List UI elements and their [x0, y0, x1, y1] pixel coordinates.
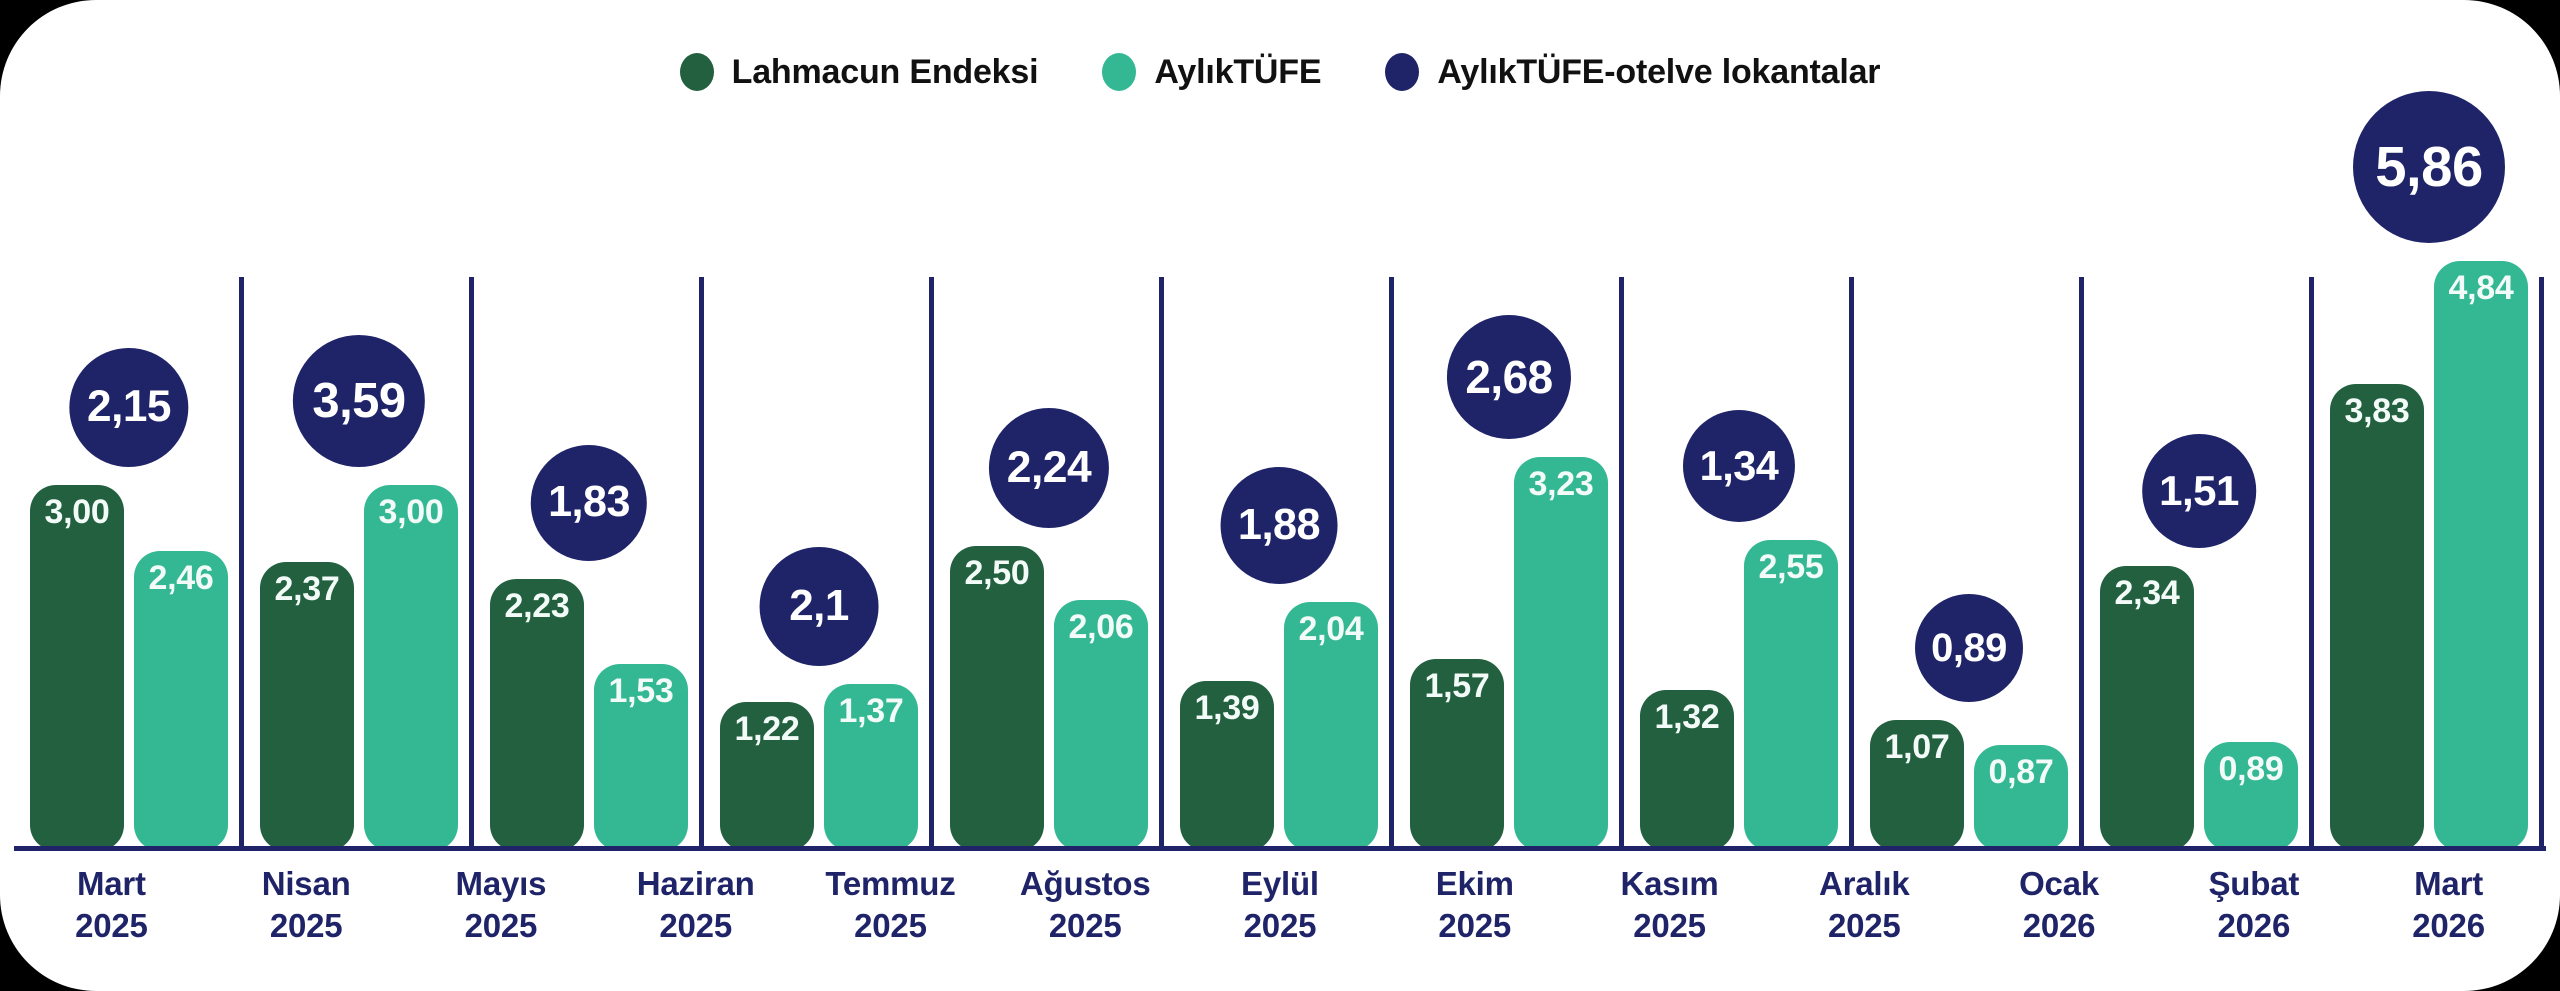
x-label-month: Kasım: [1620, 865, 1718, 902]
plot-area: 2,153,002,463,592,373,001,832,231,532,11…: [0, 150, 2560, 851]
bar-value-label: 2,55: [1759, 550, 1824, 586]
x-label-year: 2026: [2351, 905, 2546, 947]
bar-tufe: 1,37: [824, 684, 918, 851]
bar-group: 1,881,392,04: [1164, 150, 1394, 851]
bubble-value: 2,1: [789, 581, 849, 631]
bar-value-label: 1,53: [609, 674, 674, 710]
x-axis-label: Mayıs2025: [404, 851, 599, 961]
legend-label: AylıkTÜFE: [1154, 53, 1321, 92]
bar-group: 2,821,332,96: [2544, 150, 2560, 851]
x-label-year: 2025: [1767, 905, 1962, 947]
bar-lahmacun: 2,37: [260, 562, 354, 851]
bar-lahmacun: 2,23: [490, 579, 584, 851]
bar-tufe: 2,46: [134, 551, 228, 851]
bar-value-label: 3,00: [45, 495, 110, 531]
bar-group: 2,11,221,37: [704, 150, 934, 851]
bar-lahmacun: 3,83: [2330, 384, 2424, 851]
bar-value-label: 0,89: [2219, 752, 2284, 788]
legend-dot-lahmacun: [680, 53, 714, 91]
x-label-month: Aralık: [1819, 865, 1910, 902]
x-label-year: 2025: [404, 905, 599, 947]
legend-item-1[interactable]: AylıkTÜFE: [1102, 53, 1321, 92]
bar-lahmacun: 3,00: [30, 485, 124, 851]
bar-group: 0,891,070,87: [1854, 150, 2084, 851]
bar-lahmacun: 1,32: [1640, 690, 1734, 851]
x-label-year: 2025: [988, 905, 1183, 947]
x-axis-label: Aralık2025: [1767, 851, 1962, 961]
bar-value-label: 3,00: [379, 495, 444, 531]
bar-value-label: 2,34: [2115, 576, 2180, 612]
x-label-month: Ekim: [1436, 865, 1514, 902]
bar-group: 5,863,834,84: [2314, 150, 2544, 851]
x-axis-label: Şubat2026: [2156, 851, 2351, 961]
bar-group: 2,242,502,06: [934, 150, 1164, 851]
bar-group: 1,512,340,89: [2084, 150, 2314, 851]
bar-tufe: 0,87: [1974, 745, 2068, 851]
bubble-value: 3,59: [312, 373, 405, 429]
x-axis-label: Ocak2026: [1962, 851, 2157, 961]
bubble-tufe-otel: 1,34: [1683, 410, 1795, 522]
x-label-month: Temmuz: [825, 865, 955, 902]
bar-group: 1,832,231,53: [474, 150, 704, 851]
x-axis-label: Ekim2025: [1377, 851, 1572, 961]
bar-group: 3,592,373,00: [244, 150, 474, 851]
bar-value-label: 1,22: [735, 712, 800, 748]
bubble-tufe-otel: 1,51: [2142, 434, 2256, 548]
bubble-value: 1,34: [1700, 442, 1779, 490]
x-axis-label: Temmuz2025: [793, 851, 988, 961]
bubble-value: 1,51: [2159, 467, 2239, 515]
bar-tufe: 4,84: [2434, 261, 2528, 851]
bubble-tufe-otel: 2,68: [1447, 315, 1571, 439]
bar-value-label: 0,87: [1989, 755, 2054, 791]
x-label-year: 2026: [1962, 905, 2157, 947]
bar-value-label: 1,32: [1655, 700, 1720, 736]
bubble-tufe-otel: 0,89: [1915, 594, 2023, 702]
x-label-year: 2025: [209, 905, 404, 947]
bar-value-label: 4,84: [2449, 271, 2514, 307]
bar-tufe: 2,55: [1744, 540, 1838, 851]
x-label-month: Ocak: [2019, 865, 2099, 902]
bubble-tufe-otel: 1,88: [1221, 467, 1338, 584]
x-label-month: Ağustos: [1020, 865, 1151, 902]
legend-dot-tufe-otel: [1385, 53, 1419, 91]
x-label-month: Nisan: [262, 865, 351, 902]
x-axis-label: Eylül2025: [1183, 851, 1378, 961]
bar-value-label: 1,57: [1425, 669, 1490, 705]
bar-lahmacun: 1,07: [1870, 720, 1964, 851]
bar-value-label: 2,50: [965, 556, 1030, 592]
x-label-year: 2025: [598, 905, 793, 947]
bar-tufe: 2,04: [1284, 602, 1378, 851]
bar-lahmacun: 1,39: [1180, 681, 1274, 851]
legend-dot-tufe: [1102, 53, 1136, 91]
x-label-month: Mayıs: [456, 865, 547, 902]
bar-value-label: 3,23: [1529, 467, 1594, 503]
x-label-month: Mart: [77, 865, 146, 902]
bar-tufe: 0,89: [2204, 742, 2298, 851]
bar-value-label: 2,23: [505, 589, 570, 625]
bubble-tufe-otel: 5,86: [2353, 91, 2505, 243]
chart-card: Lahmacun EndeksiAylıkTÜFEAylıkTÜFE-otelv…: [0, 0, 2560, 991]
x-label-year: 2025: [793, 905, 988, 947]
bar-lahmacun: 2,34: [2100, 566, 2194, 851]
bar-lahmacun: 1,22: [720, 702, 814, 851]
bar-lahmacun: 1,57: [1410, 659, 1504, 851]
bubble-tufe-otel: 2,1: [760, 547, 879, 666]
bar-groups: 2,153,002,463,592,373,001,832,231,532,11…: [14, 150, 2546, 851]
x-label-year: 2025: [1377, 905, 1572, 947]
x-axis-label: Kasım2025: [1572, 851, 1767, 961]
x-axis-label: Mart2025: [14, 851, 209, 961]
x-label-month: Şubat: [2208, 865, 2299, 902]
x-label-year: 2025: [1183, 905, 1378, 947]
bar-lahmacun: 2,50: [950, 546, 1044, 851]
x-label-month: Eylül: [1241, 865, 1319, 902]
bubble-tufe-otel: 1,83: [531, 445, 647, 561]
bubble-value: 0,89: [1931, 626, 2007, 671]
bar-value-label: 2,46: [149, 561, 214, 597]
bubble-value: 5,86: [2375, 134, 2482, 199]
bubble-value: 2,24: [1007, 443, 1092, 493]
x-axis-label: Ağustos2025: [988, 851, 1183, 961]
legend-label: AylıkTÜFE-otelve lokantalar: [1437, 53, 1880, 92]
bubble-value: 2,15: [87, 382, 171, 432]
bar-tufe: 1,53: [594, 664, 688, 851]
bubble-tufe-otel: 3,59: [293, 335, 425, 467]
bar-tufe: 2,06: [1054, 600, 1148, 851]
bar-value-label: 1,37: [839, 694, 904, 730]
x-label-year: 2025: [1572, 905, 1767, 947]
x-label-year: 2025: [14, 905, 209, 947]
bar-value-label: 2,06: [1069, 610, 1134, 646]
x-axis-label: Mart2026: [2351, 851, 2546, 961]
chart-legend: Lahmacun EndeksiAylıkTÜFEAylıkTÜFE-otelv…: [0, 42, 2560, 102]
legend-item-0[interactable]: Lahmacun Endeksi: [680, 53, 1039, 92]
bar-value-label: 3,83: [2345, 394, 2410, 430]
bar-group: 1,341,322,55: [1624, 150, 1854, 851]
bubble-tufe-otel: 2,15: [69, 348, 188, 467]
bar-tufe: 3,23: [1514, 457, 1608, 851]
bubble-value: 1,88: [1238, 501, 1320, 550]
legend-label: Lahmacun Endeksi: [732, 53, 1039, 92]
bar-value-label: 2,04: [1299, 612, 1364, 648]
x-label-year: 2026: [2156, 905, 2351, 947]
bubble-value: 1,83: [548, 478, 630, 527]
bubble-value: 2,68: [1465, 350, 1552, 404]
bar-value-label: 2,37: [275, 572, 340, 608]
bar-group: 2,153,002,46: [14, 150, 244, 851]
bubble-tufe-otel: 2,24: [989, 408, 1109, 528]
bar-value-label: 1,39: [1195, 691, 1260, 727]
x-axis-label: Haziran2025: [598, 851, 793, 961]
bar-tufe: 3,00: [364, 485, 458, 851]
bar-group: 2,681,573,23: [1394, 150, 1624, 851]
x-label-month: Haziran: [637, 865, 755, 902]
x-label-month: Mart: [2414, 865, 2483, 902]
x-axis-label: Nisan2025: [209, 851, 404, 961]
bar-value-label: 1,07: [1885, 730, 1950, 766]
x-axis-labels: Mart2025Nisan2025Mayıs2025Haziran2025Tem…: [14, 851, 2546, 961]
legend-item-2[interactable]: AylıkTÜFE-otelve lokantalar: [1385, 53, 1880, 92]
